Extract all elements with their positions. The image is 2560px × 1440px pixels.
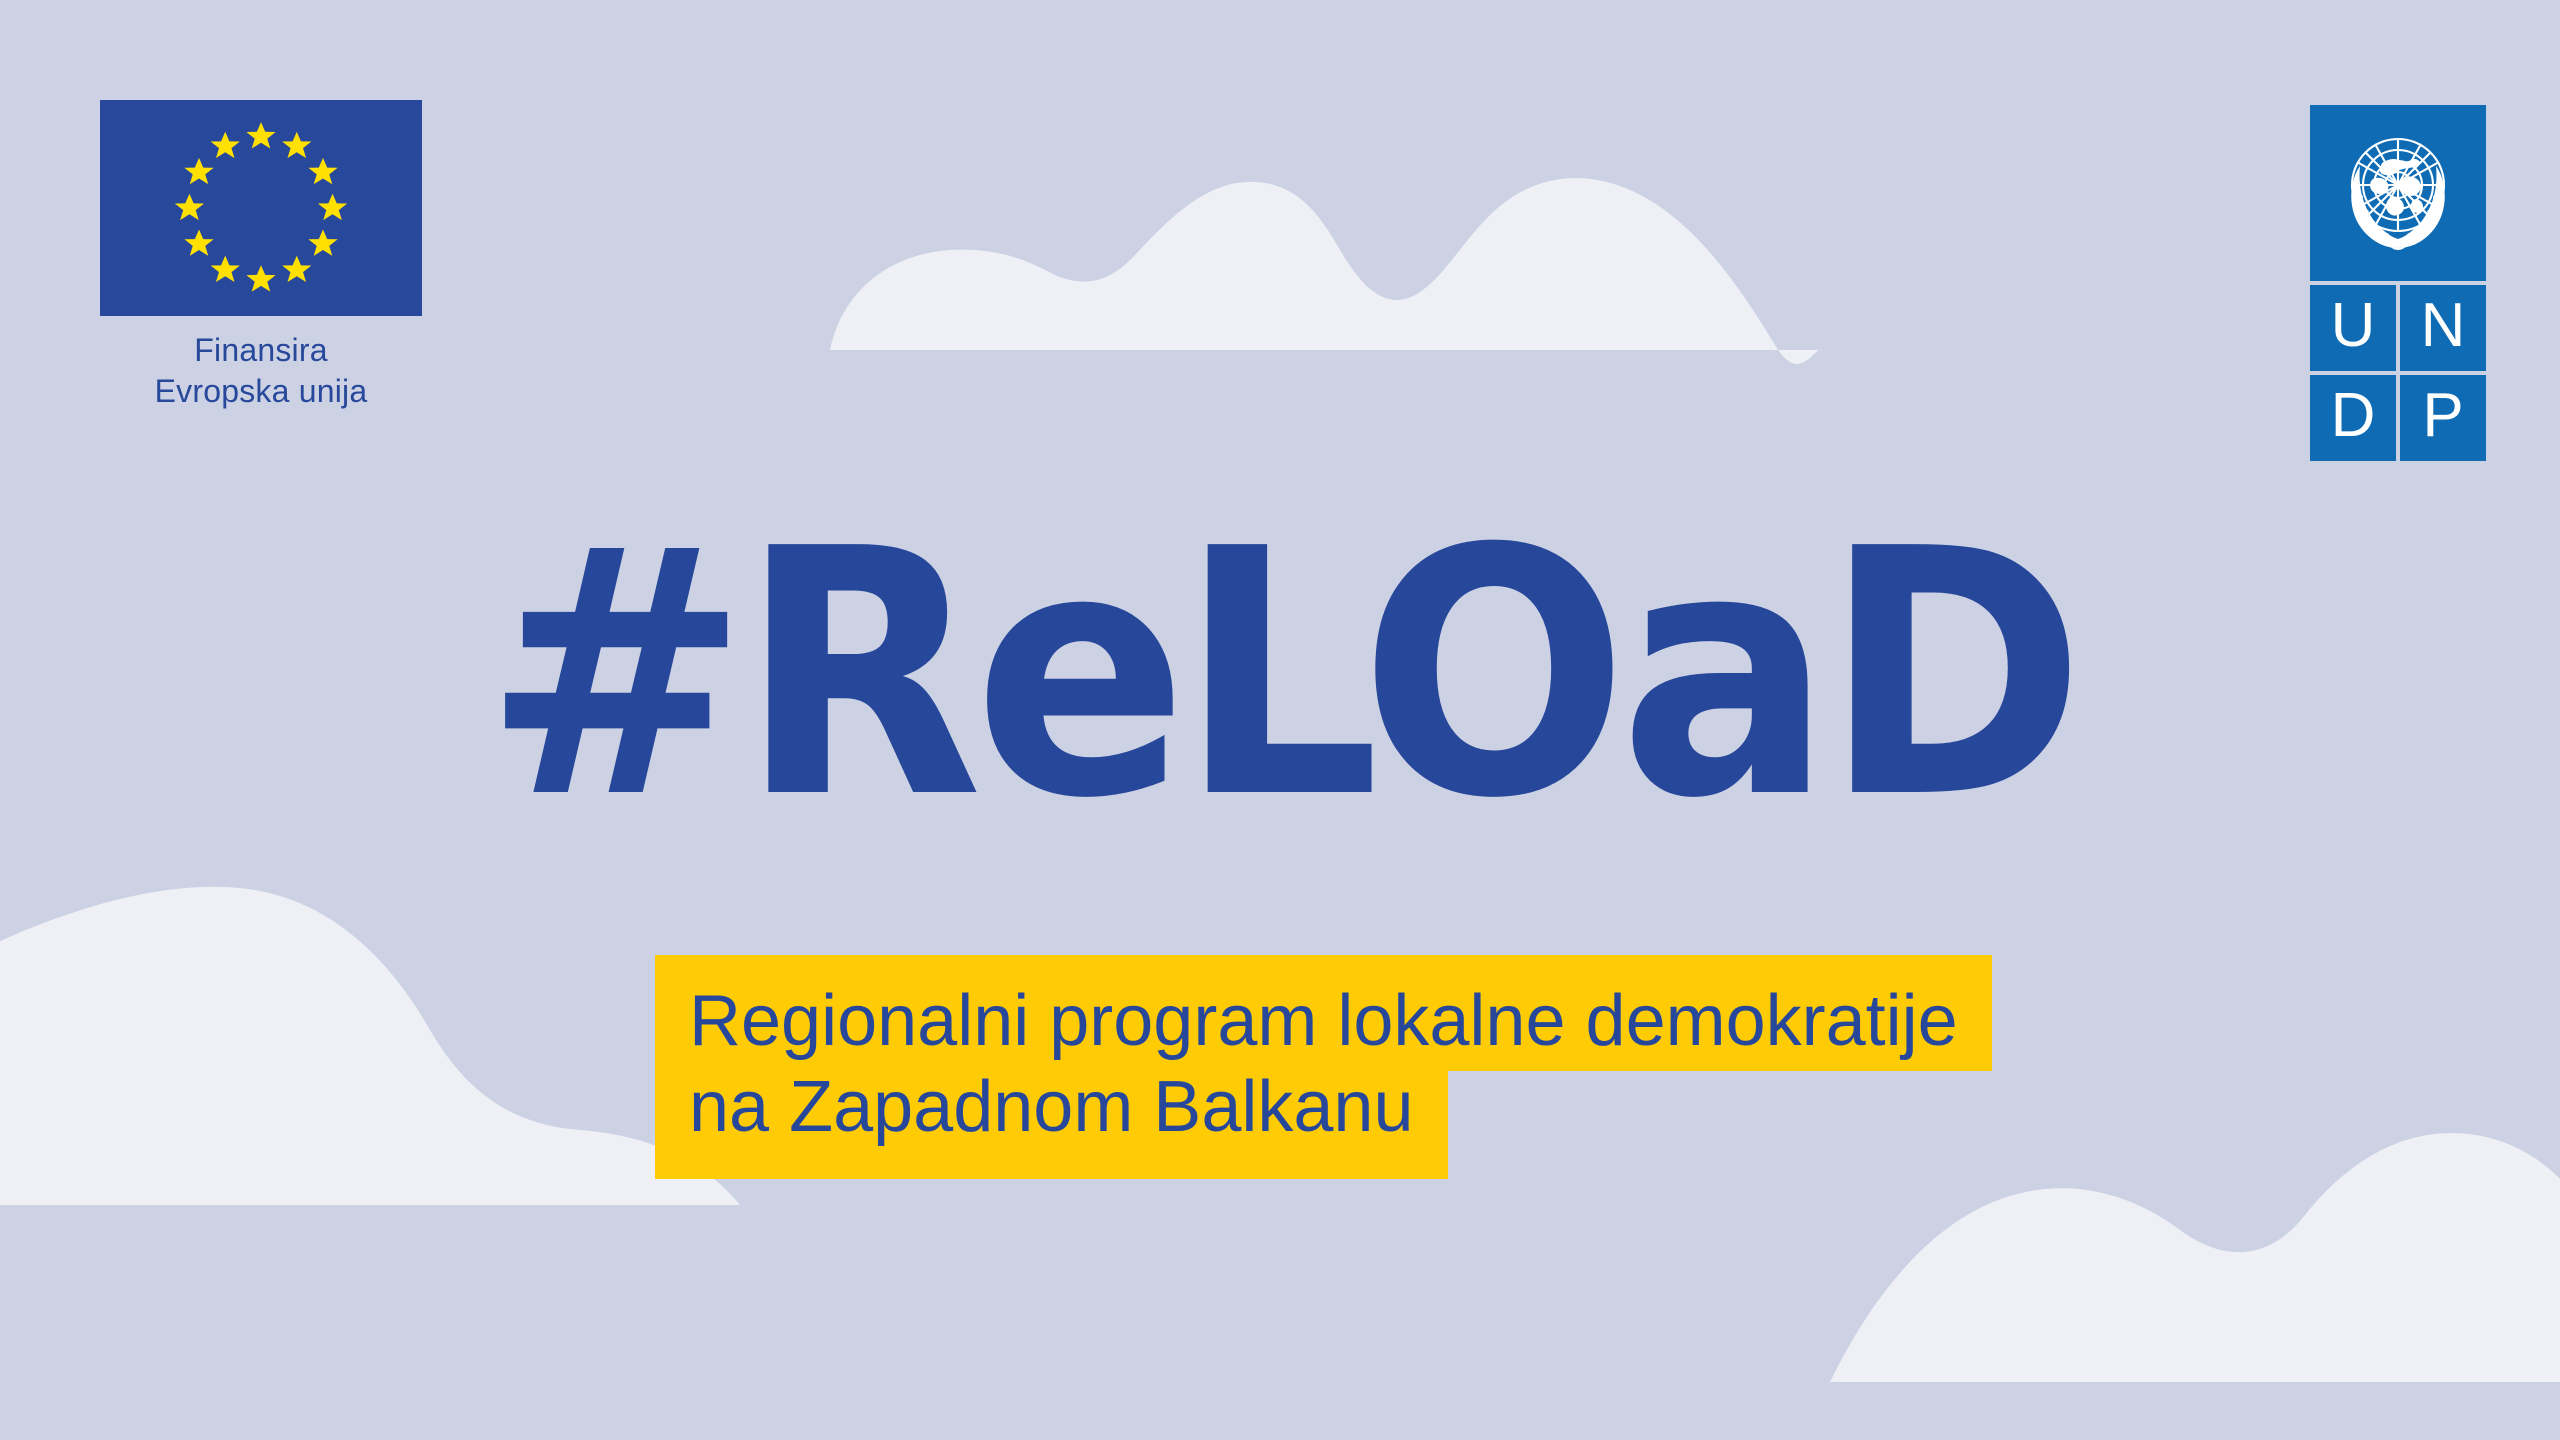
subtitle-line-1: Regionalni program lokalne demokratije (655, 955, 1992, 1071)
program-headline: #ReLOaD (90, 505, 2471, 845)
undp-letter-n: N (2400, 285, 2486, 371)
undp-letter-d: D (2310, 375, 2396, 461)
subtitle-line-2: na Zapadnom Balkanu (655, 1071, 1448, 1179)
poster-canvas: Finansira Evropska unija (0, 0, 2560, 1440)
european-union-flag-icon (100, 100, 422, 316)
eu-caption-line-1: Finansira (100, 330, 422, 371)
united-nations-emblem-icon (2310, 105, 2486, 281)
undp-letter-grid: U N D P (2310, 285, 2486, 461)
undp-logo: U N D P (2310, 105, 2486, 461)
undp-letter-u: U (2310, 285, 2396, 371)
undp-letter-p: P (2400, 375, 2486, 461)
subtitle-banner: Regionalni program lokalne demokratije n… (655, 955, 1992, 1179)
eu-funding-caption: Finansira Evropska unija (100, 330, 422, 412)
cloud-top-center (830, 178, 1822, 364)
cloud-bottom-left (0, 887, 740, 1205)
eu-caption-line-2: Evropska unija (100, 371, 422, 412)
eu-funding-logo: Finansira Evropska unija (100, 100, 422, 412)
